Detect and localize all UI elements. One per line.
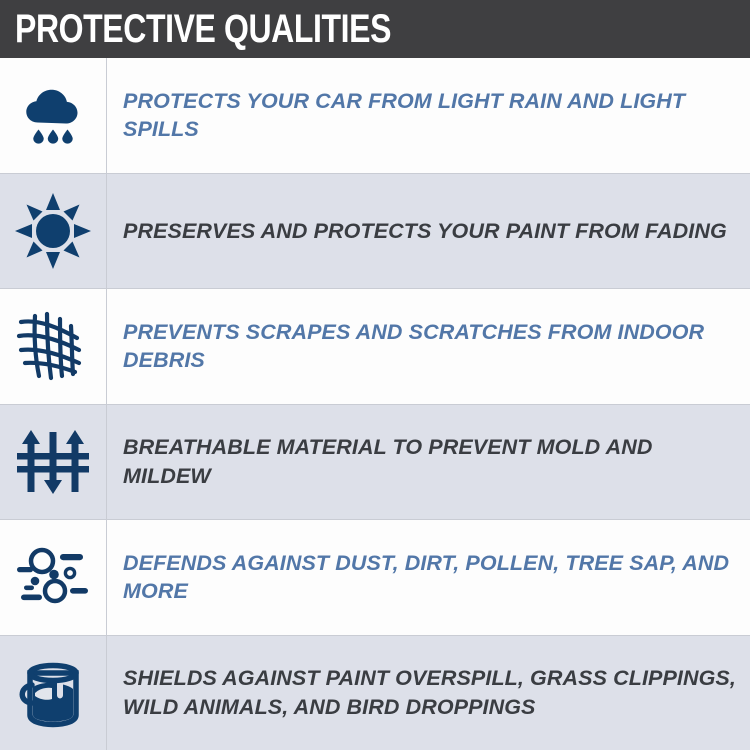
- text-cell: PRESERVES AND PROTECTS YOUR PAINT FROM F…: [107, 174, 750, 289]
- text-cell: BREATHABLE MATERIAL TO PREVENT MOLD AND …: [107, 405, 750, 520]
- feature-row: DEFENDS AGAINST DUST, DIRT, POLLEN, TREE…: [0, 520, 750, 636]
- icon-cell: [0, 636, 107, 750]
- icon-cell: [0, 174, 107, 289]
- feature-text: PRESERVES AND PROTECTS YOUR PAINT FROM F…: [123, 217, 727, 245]
- text-cell: DEFENDS AGAINST DUST, DIRT, POLLEN, TREE…: [107, 520, 750, 635]
- feature-row: PROTECTS YOUR CAR FROM LIGHT RAIN AND LI…: [0, 58, 750, 174]
- feature-text: PREVENTS SCRAPES AND SCRATCHES FROM INDO…: [123, 318, 736, 375]
- icon-cell: [0, 405, 107, 520]
- sun-icon: [13, 191, 93, 271]
- protective-qualities-infographic: PROTECTIVE QUALITIES PROTEC: [0, 0, 750, 750]
- feature-row-list: PROTECTS YOUR CAR FROM LIGHT RAIN AND LI…: [0, 58, 750, 750]
- text-cell: SHIELDS AGAINST PAINT OVERSPILL, GRASS C…: [107, 636, 750, 750]
- feature-text: PROTECTS YOUR CAR FROM LIGHT RAIN AND LI…: [123, 87, 736, 144]
- feature-row: PREVENTS SCRAPES AND SCRATCHES FROM INDO…: [0, 289, 750, 405]
- icon-cell: [0, 289, 107, 404]
- feature-row: PRESERVES AND PROTECTS YOUR PAINT FROM F…: [0, 174, 750, 290]
- feature-text: BREATHABLE MATERIAL TO PREVENT MOLD AND …: [123, 433, 736, 490]
- feature-text: SHIELDS AGAINST PAINT OVERSPILL, GRASS C…: [123, 664, 736, 721]
- feature-row: BREATHABLE MATERIAL TO PREVENT MOLD AND …: [0, 405, 750, 521]
- mesh-net-icon: [13, 306, 93, 386]
- cloud-rain-icon: [13, 75, 93, 155]
- breathable-airflow-icon: [13, 422, 93, 502]
- dust-particles-icon: [13, 537, 93, 617]
- icon-cell: [0, 58, 107, 173]
- text-cell: PREVENTS SCRAPES AND SCRATCHES FROM INDO…: [107, 289, 750, 404]
- page-title: PROTECTIVE QUALITIES: [15, 9, 391, 49]
- header-bar: PROTECTIVE QUALITIES: [0, 0, 750, 58]
- feature-row: SHIELDS AGAINST PAINT OVERSPILL, GRASS C…: [0, 636, 750, 750]
- text-cell: PROTECTS YOUR CAR FROM LIGHT RAIN AND LI…: [107, 58, 750, 173]
- paint-can-icon: [13, 653, 93, 733]
- icon-cell: [0, 520, 107, 635]
- feature-text: DEFENDS AGAINST DUST, DIRT, POLLEN, TREE…: [123, 549, 736, 606]
